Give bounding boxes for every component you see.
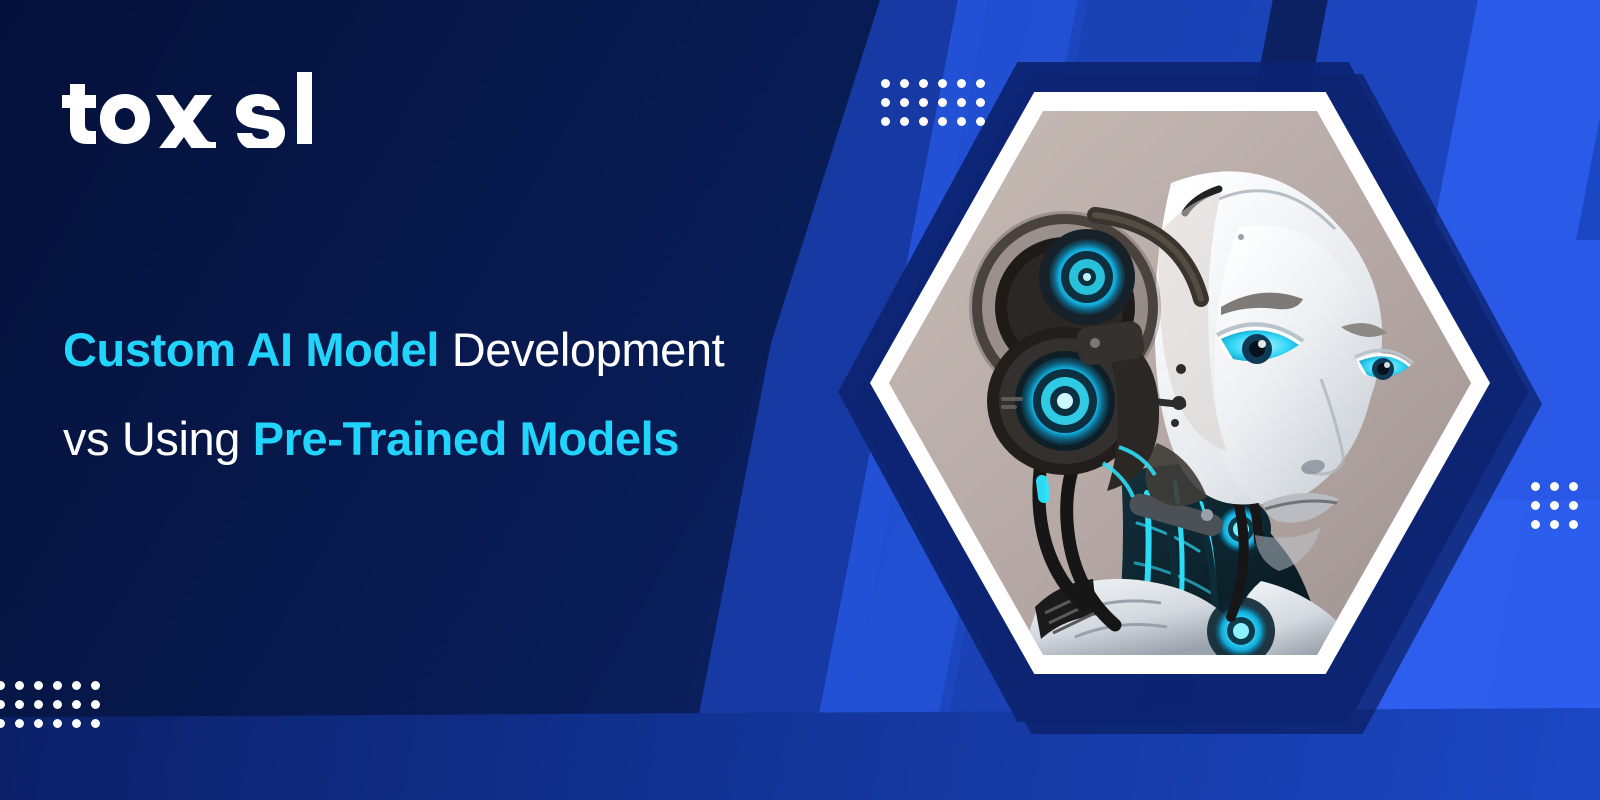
hero-banner: Custom AI Model Development vs Using Pre… [0,0,1600,800]
headline-line-2: vs Using Pre-Trained Models [63,394,863,483]
dot-grid-bottom-icon [0,681,100,728]
headline-accent-1: Custom AI Model [63,323,439,376]
ai-robot-portrait-illustration [889,111,1471,655]
headline-plain-1: Development [439,323,724,376]
toxsl-wordmark-icon [62,72,312,148]
headline-line-1: Custom AI Model Development [63,305,863,394]
headline-plain-2: vs Using [63,412,253,465]
hero-image-hexagon [870,92,1490,674]
toxsl-logo[interactable] [62,72,312,148]
hexagon-image-clip [889,111,1471,655]
headline-accent-2: Pre-Trained Models [253,412,679,465]
page-title: Custom AI Model Development vs Using Pre… [63,305,863,483]
dot-grid-right-icon [1531,482,1578,529]
